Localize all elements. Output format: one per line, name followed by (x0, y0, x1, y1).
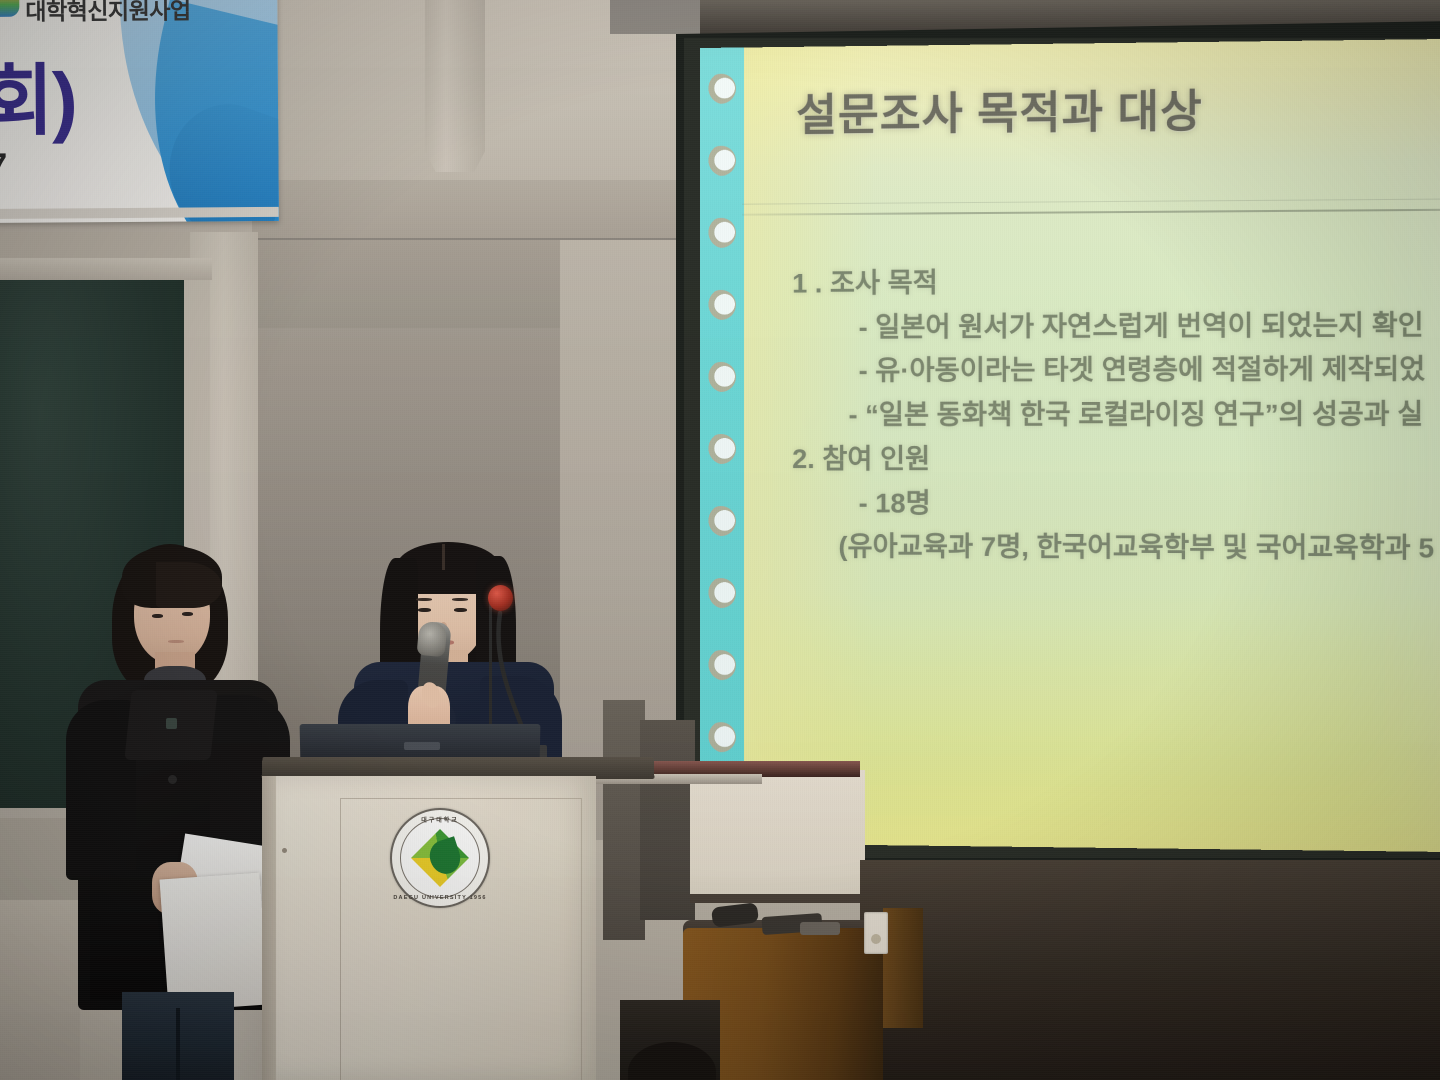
university-innovation-logo-icon (0, 0, 19, 17)
microphone-head-icon (488, 585, 513, 611)
cabinet-item-light (800, 922, 840, 935)
presenter-right-eyebrow (452, 598, 468, 601)
chalkboard-top-trim (0, 258, 212, 280)
wall-band-upper (252, 180, 712, 238)
banner-subtitle: 대학혁신지원사업 (25, 0, 191, 27)
podium-laptop-lip (404, 742, 440, 750)
slide-line: - 18명 (859, 482, 1440, 528)
presenter-left-coat-button (168, 775, 177, 784)
presenter-left-eye (182, 612, 193, 616)
presenter-left-shoulder (66, 700, 136, 880)
banner-main-text: E회) (0, 38, 76, 151)
dark-background-right (860, 860, 1440, 1080)
university-emblem: 대구대학교 DAEGU UNIVERSITY 1956 (390, 808, 490, 908)
microphone-grill-icon (417, 621, 448, 657)
wood-wall-strip (883, 908, 923, 1028)
presenter-left-coat-clasp (166, 718, 177, 729)
slide-line: (유아교육과 7명, 한국어교육학부 및 국어교육학과 5 (838, 526, 1440, 573)
presenter-right-hair-part (442, 544, 445, 570)
podium-screw (282, 848, 287, 853)
wall-niche (640, 720, 695, 920)
slide-title: 설문조사 목적과 대상 (796, 74, 1203, 143)
wall-outlet (864, 912, 888, 954)
presenter-right-eye (454, 608, 467, 612)
counter-body-edge (690, 894, 865, 903)
presenter-left-script-page (160, 873, 269, 1012)
slide-line: - 일본어 원서가 자연스럽게 번역이 되었는지 확인 (859, 303, 1440, 350)
slide-line: 2. 참여 인원 (792, 438, 1440, 483)
slide-line: - 유·아동이라는 타겟 연령층에 적절하게 제작되었 (859, 348, 1440, 394)
banner-number: 437 (0, 147, 7, 186)
presenter-right-eyebrow (416, 598, 432, 601)
presenter-left-bangs (156, 562, 222, 608)
presenter-right-eye (418, 608, 431, 612)
slide-rule-faint (742, 198, 1440, 205)
slide-line: - “일본 동화책 한국 로컬라이징 연구”의 성공과 실 (849, 393, 1440, 438)
presentation-scene: University Innovation 대학혁신지원사업 E회) 437 설… (0, 0, 1440, 1080)
slide-line: 1 . 조사 목적 (792, 258, 1440, 306)
presenter-left-jeans-seam (176, 1008, 180, 1080)
emblem-bottom-text: DAEGU UNIVERSITY 1956 (392, 895, 488, 901)
emblem-top-text: 대구대학교 (392, 815, 488, 824)
event-banner: University Innovation 대학혁신지원사업 E회) 437 (0, 0, 279, 223)
counter-body (690, 770, 865, 898)
slide-body: 1 . 조사 목적 - 일본어 원서가 자연스럽게 번역이 되었는지 확인 - … (792, 258, 1440, 572)
slide-decorative-band (700, 47, 744, 843)
presentation-slide: 설문조사 목적과 대상 1 . 조사 목적 - 일본어 원서가 자연스럽게 번역… (700, 39, 1440, 852)
presenter-left-mouth (168, 640, 184, 643)
university-emblem-inner (400, 818, 480, 898)
slide-rule (742, 208, 1440, 215)
ceiling-duct (425, 0, 485, 172)
presenter-left-eye (152, 614, 163, 618)
